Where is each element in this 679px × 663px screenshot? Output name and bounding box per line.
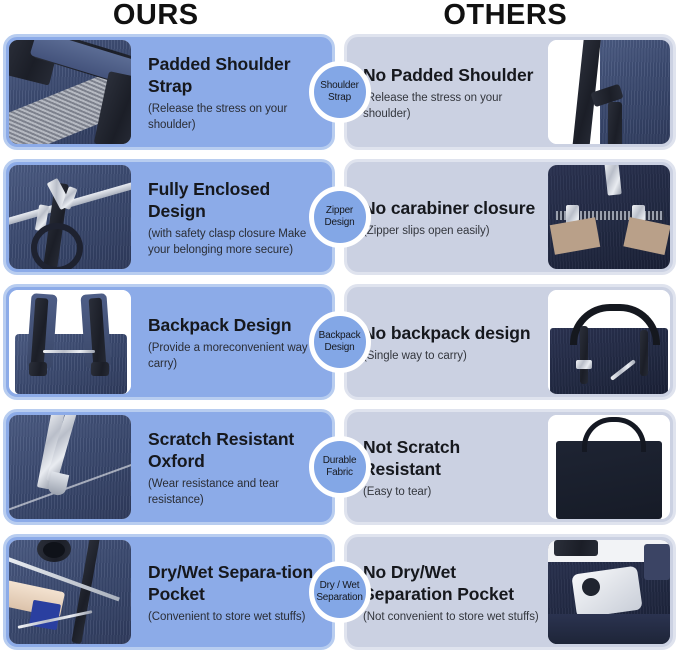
- others-feature-title: No Dry/Wet Separation Pocket: [363, 561, 539, 605]
- feature-badge-label: ShoulderStrap: [318, 80, 360, 104]
- ours-feature-title: Backpack Design: [148, 314, 322, 336]
- ours-feature-subtitle: (Provide a moreconvenient way to carry): [148, 341, 322, 373]
- feature-badge: Dry / WetSeparation: [309, 561, 371, 623]
- others-feature-subtitle: (Easy to tear): [363, 485, 539, 501]
- others-panel: No backpack design (Single way to carry): [344, 284, 676, 400]
- ours-feature-title: Scratch Resistant Oxford: [148, 428, 322, 472]
- ours-text-block: Backpack Design (Provide a moreconvenien…: [134, 287, 332, 397]
- ours-text-block: Scratch Resistant Oxford (Wear resistanc…: [134, 412, 332, 522]
- backpack-straps-photo: [9, 290, 131, 394]
- product-comparison-chart: OURS OTHERS Padded Shoulder Strap: [0, 0, 679, 663]
- ours-feature-subtitle: (Convenient to store wet stuffs): [148, 610, 322, 626]
- feature-badge-label: DurableFabric: [321, 455, 359, 479]
- ours-thumbnail: [9, 540, 131, 644]
- ours-feature-title: Fully Enclosed Design: [148, 178, 322, 222]
- others-feature-subtitle: (Release the stress on your shoulder): [363, 91, 539, 123]
- others-column-header: OTHERS: [350, 0, 679, 31]
- others-thumbnail: [548, 40, 670, 144]
- others-thumbnail: [548, 540, 670, 644]
- comparison-row: Dry/Wet Separa-tion Pocket (Convenient t…: [3, 534, 676, 650]
- others-panel: No Dry/Wet Separation Pocket (Not conven…: [344, 534, 676, 650]
- ours-panel: Fully Enclosed Design (with safety clasp…: [3, 159, 335, 275]
- others-feature-subtitle: (Not convenient to store wet stuffs): [363, 610, 539, 626]
- feature-badge-label: BackpackDesign: [317, 330, 363, 354]
- others-feature-title: No carabiner closure: [363, 197, 539, 219]
- others-panel: No carabiner closure (Zipper slips open …: [344, 159, 676, 275]
- others-text-block: No carabiner closure (Zipper slips open …: [347, 162, 545, 272]
- others-text-block: No Padded Shoulder (Release the stress o…: [347, 37, 545, 147]
- others-feature-subtitle: (Zipper slips open easily): [363, 224, 539, 240]
- ours-column-header: OURS: [0, 0, 350, 31]
- ours-feature-subtitle: (with safety clasp closure Make your bel…: [148, 227, 322, 259]
- feature-badge: BackpackDesign: [309, 311, 371, 373]
- ours-text-block: Padded Shoulder Strap (Release the stres…: [134, 37, 332, 147]
- others-text-block: No Dry/Wet Separation Pocket (Not conven…: [347, 537, 545, 647]
- padded-shoulder-strap-photo: [9, 40, 131, 144]
- handbag-handles-photo: [548, 290, 670, 394]
- ours-feature-title: Padded Shoulder Strap: [148, 53, 322, 97]
- feature-badge: ShoulderStrap: [309, 61, 371, 123]
- others-panel: No Padded Shoulder (Release the stress o…: [344, 34, 676, 150]
- ours-thumbnail: [9, 40, 131, 144]
- open-zipper-photo: [548, 165, 670, 269]
- feature-badge: ZipperDesign: [309, 186, 371, 248]
- comparison-rows: Padded Shoulder Strap (Release the stres…: [0, 34, 679, 650]
- others-feature-title: No backpack design: [363, 322, 539, 344]
- others-feature-title: Not Scratch Resistant: [363, 436, 539, 480]
- thin-shoulder-strap-photo: [548, 40, 670, 144]
- ours-thumbnail: [9, 290, 131, 394]
- others-thumbnail: [548, 415, 670, 519]
- safety-clasp-zipper-photo: [9, 165, 131, 269]
- ours-panel: Dry/Wet Separa-tion Pocket (Convenient t…: [3, 534, 335, 650]
- phone-in-side-pocket-photo: [548, 540, 670, 644]
- comparison-row: Padded Shoulder Strap (Release the stres…: [3, 34, 676, 150]
- comparison-row: Scratch Resistant Oxford (Wear resistanc…: [3, 409, 676, 525]
- others-feature-subtitle: (Single way to carry): [363, 349, 539, 365]
- feature-badge-label: Dry / WetSeparation: [314, 580, 364, 604]
- scissors-on-oxford-fabric-photo: [9, 415, 131, 519]
- ours-panel: Padded Shoulder Strap (Release the stres…: [3, 34, 335, 150]
- others-thumbnail: [548, 165, 670, 269]
- ours-panel: Backpack Design (Provide a moreconvenien…: [3, 284, 335, 400]
- ours-thumbnail: [9, 165, 131, 269]
- others-panel: Not Scratch Resistant (Easy to tear): [344, 409, 676, 525]
- wet-pocket-with-towel-photo: [9, 540, 131, 644]
- ours-feature-subtitle: (Release the stress on your shoulder): [148, 102, 322, 134]
- feature-badge-label: ZipperDesign: [323, 205, 357, 229]
- others-text-block: No backpack design (Single way to carry): [347, 287, 545, 397]
- comparison-row: Fully Enclosed Design (with safety clasp…: [3, 159, 676, 275]
- others-thumbnail: [548, 290, 670, 394]
- ours-panel: Scratch Resistant Oxford (Wear resistanc…: [3, 409, 335, 525]
- ours-feature-title: Dry/Wet Separa-tion Pocket: [148, 561, 322, 605]
- others-feature-title: No Padded Shoulder: [363, 64, 539, 86]
- others-text-block: Not Scratch Resistant (Easy to tear): [347, 412, 545, 522]
- ours-text-block: Fully Enclosed Design (with safety clasp…: [134, 162, 332, 272]
- ours-feature-subtitle: (Wear resistance and tear resistance): [148, 477, 322, 509]
- plain-dark-bag-photo: [548, 415, 670, 519]
- feature-badge: DurableFabric: [309, 436, 371, 498]
- comparison-headers: OURS OTHERS: [0, 0, 679, 34]
- ours-thumbnail: [9, 415, 131, 519]
- comparison-row: Backpack Design (Provide a moreconvenien…: [3, 284, 676, 400]
- ours-text-block: Dry/Wet Separa-tion Pocket (Convenient t…: [134, 537, 332, 647]
